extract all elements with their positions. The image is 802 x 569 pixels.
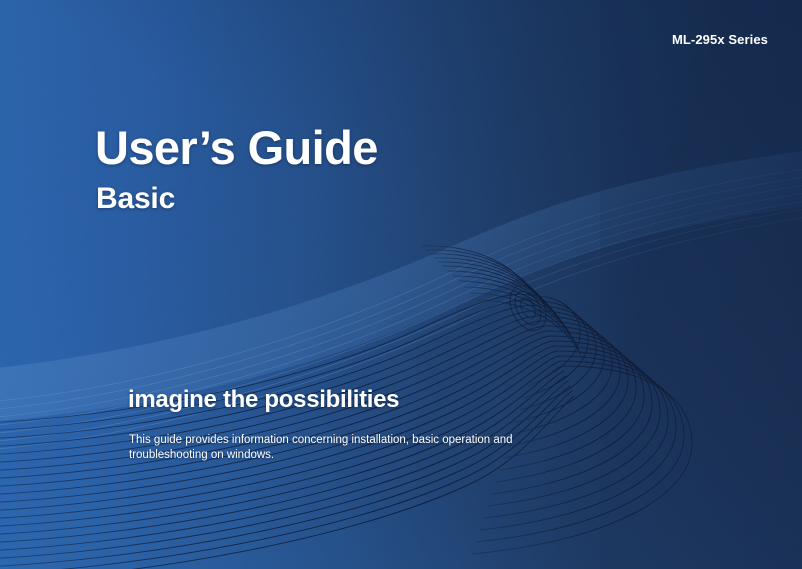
user-guide-cover-page: ML-295x Series User’s Guide Basic imagin… (0, 0, 802, 569)
decorative-swirl-artwork (0, 0, 802, 569)
guide-description: This guide provides information concerni… (129, 433, 513, 463)
page-title: User’s Guide (95, 120, 378, 175)
series-label: ML-295x Series (672, 32, 768, 47)
brand-tagline: imagine the possibilities (128, 386, 399, 414)
page-subtitle: Basic (96, 182, 175, 216)
